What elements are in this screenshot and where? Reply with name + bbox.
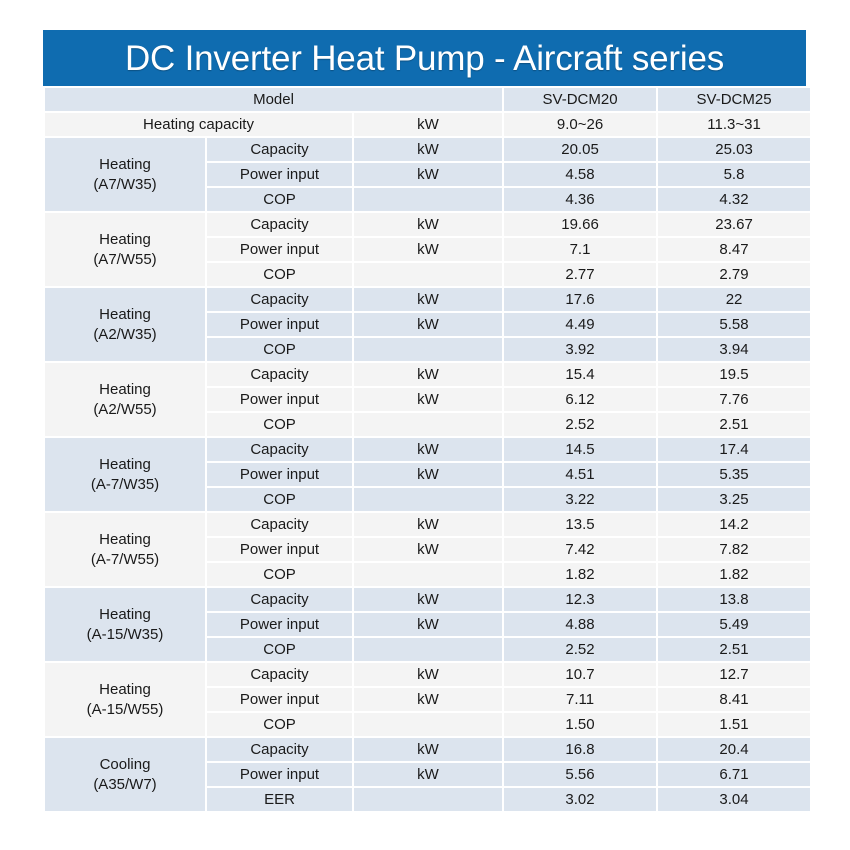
metric-model-1-value-cell: 13.5 xyxy=(504,513,656,536)
metric-model-2-value-cell: 23.67 xyxy=(658,213,810,236)
metric-model-2-value-cell: 5.35 xyxy=(658,463,810,486)
metric-model-2-value-cell: 8.47 xyxy=(658,238,810,261)
metric-model-1-value-cell: 3.02 xyxy=(504,788,656,811)
metric-unit-cell: kW xyxy=(354,763,502,786)
table-row: Heating(A-15/W55)CapacitykW10.712.7 xyxy=(45,663,810,686)
condition-group-cell: Heating(A-7/W55) xyxy=(45,513,205,586)
heating-capacity-model-1-cell: 9.0~26 xyxy=(504,113,656,136)
heating-capacity-model-2-cell: 11.3~31 xyxy=(658,113,810,136)
metric-model-1-value-cell: 20.05 xyxy=(504,138,656,161)
metric-model-2-value-cell: 1.82 xyxy=(658,563,810,586)
metric-model-1-value-cell: 19.66 xyxy=(504,213,656,236)
metric-model-1-value-cell: 14.5 xyxy=(504,438,656,461)
condition-group-mode: Heating xyxy=(47,530,203,549)
page-root: DC Inverter Heat Pump - Aircraft series … xyxy=(0,0,850,850)
model-2-header-cell: SV-DCM25 xyxy=(658,88,810,111)
metric-model-2-value-cell: 7.82 xyxy=(658,538,810,561)
metric-model-1-value-cell: 4.51 xyxy=(504,463,656,486)
metric-name-cell: Capacity xyxy=(207,663,352,686)
metric-name-cell: Power input xyxy=(207,388,352,411)
spec-sheet: DC Inverter Heat Pump - Aircraft series … xyxy=(43,30,806,813)
condition-group-cell: Heating(A2/W55) xyxy=(45,363,205,436)
condition-group-cell: Cooling(A35/W7) xyxy=(45,738,205,811)
table-row: Heating(A2/W35)CapacitykW17.622 xyxy=(45,288,810,311)
heating-capacity-unit-cell: kW xyxy=(354,113,502,136)
metric-model-2-value-cell: 5.8 xyxy=(658,163,810,186)
heating-capacity-row: Heating capacitykW9.0~2611.3~31 xyxy=(45,113,810,136)
metric-model-2-value-cell: 14.2 xyxy=(658,513,810,536)
metric-model-1-value-cell: 5.56 xyxy=(504,763,656,786)
metric-model-2-value-cell: 19.5 xyxy=(658,363,810,386)
metric-name-cell: COP xyxy=(207,638,352,661)
metric-name-cell: Power input xyxy=(207,688,352,711)
metric-unit-cell xyxy=(354,713,502,736)
metric-model-1-value-cell: 4.36 xyxy=(504,188,656,211)
metric-model-1-value-cell: 2.77 xyxy=(504,263,656,286)
metric-unit-cell: kW xyxy=(354,588,502,611)
table-row: Heating(A7/W55)CapacitykW19.6623.67 xyxy=(45,213,810,236)
metric-model-1-value-cell: 12.3 xyxy=(504,588,656,611)
metric-model-2-value-cell: 22 xyxy=(658,288,810,311)
metric-model-1-value-cell: 2.52 xyxy=(504,413,656,436)
metric-model-2-value-cell: 7.76 xyxy=(658,388,810,411)
condition-group-mode: Cooling xyxy=(47,755,203,774)
metric-model-2-value-cell: 3.04 xyxy=(658,788,810,811)
metric-model-2-value-cell: 13.8 xyxy=(658,588,810,611)
metric-unit-cell xyxy=(354,563,502,586)
condition-group-cell: Heating(A7/W35) xyxy=(45,138,205,211)
metric-model-2-value-cell: 3.94 xyxy=(658,338,810,361)
metric-name-cell: COP xyxy=(207,338,352,361)
metric-name-cell: Capacity xyxy=(207,288,352,311)
metric-unit-cell: kW xyxy=(354,363,502,386)
condition-group-mode: Heating xyxy=(47,680,203,699)
metric-unit-cell xyxy=(354,413,502,436)
metric-unit-cell: kW xyxy=(354,463,502,486)
metric-name-cell: Capacity xyxy=(207,438,352,461)
condition-group-cell: Heating(A2/W35) xyxy=(45,288,205,361)
condition-group-mode: Heating xyxy=(47,230,203,249)
condition-group-condition: (A-15/W55) xyxy=(47,700,203,719)
metric-unit-cell: kW xyxy=(354,288,502,311)
metric-model-2-value-cell: 20.4 xyxy=(658,738,810,761)
metric-unit-cell xyxy=(354,338,502,361)
condition-group-condition: (A7/W35) xyxy=(47,175,203,194)
metric-name-cell: Capacity xyxy=(207,588,352,611)
metric-name-cell: Capacity xyxy=(207,738,352,761)
page-title: DC Inverter Heat Pump - Aircraft series xyxy=(125,41,724,76)
metric-model-1-value-cell: 15.4 xyxy=(504,363,656,386)
condition-group-cell: Heating(A-7/W35) xyxy=(45,438,205,511)
metric-model-2-value-cell: 2.51 xyxy=(658,413,810,436)
metric-model-1-value-cell: 4.49 xyxy=(504,313,656,336)
table-row: Heating(A-7/W35)CapacitykW14.517.4 xyxy=(45,438,810,461)
metric-unit-cell: kW xyxy=(354,163,502,186)
table-row: Heating(A-7/W55)CapacitykW13.514.2 xyxy=(45,513,810,536)
metric-unit-cell: kW xyxy=(354,138,502,161)
metric-unit-cell: kW xyxy=(354,388,502,411)
metric-name-cell: Capacity xyxy=(207,213,352,236)
table-row: Cooling(A35/W7)CapacitykW16.820.4 xyxy=(45,738,810,761)
metric-name-cell: Capacity xyxy=(207,513,352,536)
model-header-row: ModelSV-DCM20SV-DCM25 xyxy=(45,88,810,111)
metric-model-2-value-cell: 1.51 xyxy=(658,713,810,736)
metric-unit-cell xyxy=(354,263,502,286)
metric-unit-cell: kW xyxy=(354,688,502,711)
condition-group-condition: (A-15/W35) xyxy=(47,625,203,644)
metric-name-cell: COP xyxy=(207,263,352,286)
metric-unit-cell: kW xyxy=(354,513,502,536)
condition-group-mode: Heating xyxy=(47,155,203,174)
metric-model-1-value-cell: 7.1 xyxy=(504,238,656,261)
metric-model-1-value-cell: 1.82 xyxy=(504,563,656,586)
metric-unit-cell xyxy=(354,488,502,511)
metric-name-cell: Power input xyxy=(207,613,352,636)
metric-model-2-value-cell: 5.49 xyxy=(658,613,810,636)
metric-name-cell: COP xyxy=(207,188,352,211)
metric-name-cell: COP xyxy=(207,488,352,511)
metric-model-2-value-cell: 6.71 xyxy=(658,763,810,786)
model-label-cell: Model xyxy=(45,88,502,111)
metric-model-2-value-cell: 2.51 xyxy=(658,638,810,661)
metric-unit-cell: kW xyxy=(354,213,502,236)
metric-model-1-value-cell: 10.7 xyxy=(504,663,656,686)
condition-group-mode: Heating xyxy=(47,605,203,624)
metric-name-cell: Capacity xyxy=(207,363,352,386)
metric-name-cell: Power input xyxy=(207,163,352,186)
condition-group-condition: (A-7/W35) xyxy=(47,475,203,494)
metric-name-cell: Capacity xyxy=(207,138,352,161)
condition-group-cell: Heating(A-15/W55) xyxy=(45,663,205,736)
metric-unit-cell: kW xyxy=(354,538,502,561)
metric-model-1-value-cell: 1.50 xyxy=(504,713,656,736)
metric-model-2-value-cell: 17.4 xyxy=(658,438,810,461)
metric-name-cell: Power input xyxy=(207,763,352,786)
metric-model-1-value-cell: 3.92 xyxy=(504,338,656,361)
metric-model-1-value-cell: 4.88 xyxy=(504,613,656,636)
metric-name-cell: Power input xyxy=(207,238,352,261)
metric-model-1-value-cell: 4.58 xyxy=(504,163,656,186)
metric-name-cell: Power input xyxy=(207,538,352,561)
metric-model-1-value-cell: 16.8 xyxy=(504,738,656,761)
condition-group-condition: (A2/W35) xyxy=(47,325,203,344)
metric-model-1-value-cell: 3.22 xyxy=(504,488,656,511)
metric-unit-cell: kW xyxy=(354,313,502,336)
metric-unit-cell xyxy=(354,638,502,661)
metric-unit-cell: kW xyxy=(354,663,502,686)
metric-model-2-value-cell: 12.7 xyxy=(658,663,810,686)
condition-group-cell: Heating(A7/W55) xyxy=(45,213,205,286)
metric-unit-cell: kW xyxy=(354,438,502,461)
metric-unit-cell: kW xyxy=(354,238,502,261)
metric-model-1-value-cell: 7.42 xyxy=(504,538,656,561)
metric-model-1-value-cell: 7.11 xyxy=(504,688,656,711)
condition-group-condition: (A-7/W55) xyxy=(47,550,203,569)
condition-group-condition: (A7/W55) xyxy=(47,250,203,269)
table-row: Heating(A2/W55)CapacitykW15.419.5 xyxy=(45,363,810,386)
metric-model-1-value-cell: 6.12 xyxy=(504,388,656,411)
metric-name-cell: Power input xyxy=(207,463,352,486)
condition-group-condition: (A2/W55) xyxy=(47,400,203,419)
metric-name-cell: Power input xyxy=(207,313,352,336)
metric-unit-cell: kW xyxy=(354,738,502,761)
metric-name-cell: COP xyxy=(207,563,352,586)
heating-capacity-label-cell: Heating capacity xyxy=(45,113,352,136)
metric-model-2-value-cell: 8.41 xyxy=(658,688,810,711)
metric-model-2-value-cell: 5.58 xyxy=(658,313,810,336)
metric-unit-cell xyxy=(354,188,502,211)
specification-table: ModelSV-DCM20SV-DCM25Heating capacitykW9… xyxy=(43,86,812,813)
condition-group-mode: Heating xyxy=(47,305,203,324)
metric-model-2-value-cell: 25.03 xyxy=(658,138,810,161)
metric-unit-cell: kW xyxy=(354,613,502,636)
condition-group-cell: Heating(A-15/W35) xyxy=(45,588,205,661)
metric-model-1-value-cell: 17.6 xyxy=(504,288,656,311)
condition-group-condition: (A35/W7) xyxy=(47,775,203,794)
model-1-header-cell: SV-DCM20 xyxy=(504,88,656,111)
table-row: Heating(A7/W35)CapacitykW20.0525.03 xyxy=(45,138,810,161)
product-title-bar: DC Inverter Heat Pump - Aircraft series xyxy=(43,30,806,86)
metric-name-cell: COP xyxy=(207,713,352,736)
condition-group-mode: Heating xyxy=(47,380,203,399)
metric-unit-cell xyxy=(354,788,502,811)
condition-group-mode: Heating xyxy=(47,455,203,474)
metric-model-2-value-cell: 4.32 xyxy=(658,188,810,211)
table-row: Heating(A-15/W35)CapacitykW12.313.8 xyxy=(45,588,810,611)
metric-model-2-value-cell: 3.25 xyxy=(658,488,810,511)
metric-model-1-value-cell: 2.52 xyxy=(504,638,656,661)
metric-name-cell: COP xyxy=(207,413,352,436)
metric-name-cell: EER xyxy=(207,788,352,811)
metric-model-2-value-cell: 2.79 xyxy=(658,263,810,286)
